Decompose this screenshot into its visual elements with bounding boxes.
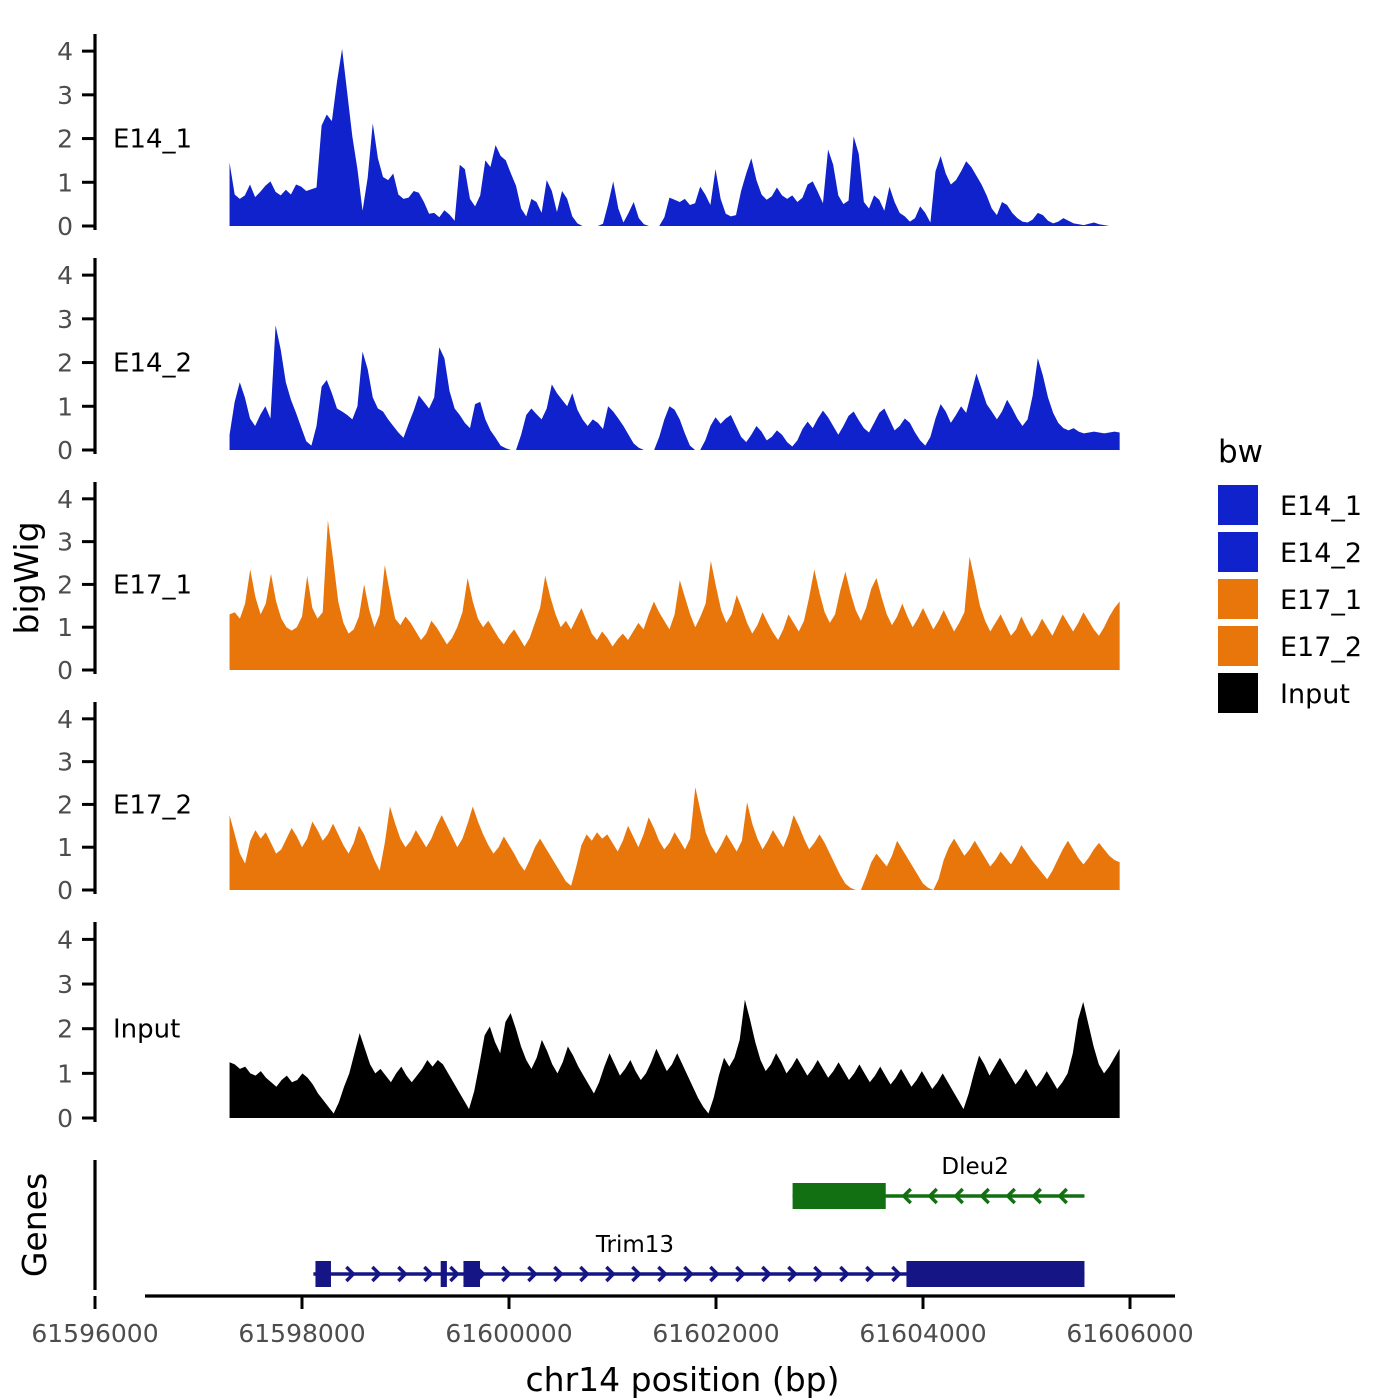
track-panel-E14_2: 01234E14_2 <box>57 258 1120 465</box>
y-tick-label-E17_2-2: 2 <box>57 790 73 819</box>
y-tick-label-E14_2-4: 4 <box>57 261 73 290</box>
genes-panel: GenesDleu2Trim13 <box>15 1154 1084 1290</box>
gene-name-dleu2: Dleu2 <box>941 1154 1008 1180</box>
track-label-E17_1: E17_1 <box>113 570 192 600</box>
legend-label-Input: Input <box>1280 679 1350 710</box>
bigwig-axis-title: bigWig <box>7 521 46 634</box>
gene-name-trim13: Trim13 <box>595 1232 674 1258</box>
y-tick-label-Input-3: 3 <box>57 970 73 999</box>
y-tick-label-E17_1-3: 3 <box>57 528 73 557</box>
y-tick-label-E17_2-3: 3 <box>57 748 73 777</box>
track-area-Input <box>230 1000 1120 1118</box>
gene-exon-trim13-4 <box>906 1261 1084 1287</box>
track-panel-Input: 01234Input <box>57 922 1120 1133</box>
x-tick-label-61604000: 61604000 <box>859 1319 986 1348</box>
y-tick-label-E17_2-0: 0 <box>57 876 73 905</box>
gene-exon-dleu2 <box>793 1183 886 1209</box>
y-tick-label-E17_1-0: 0 <box>57 656 73 685</box>
figure-root: 01234E14_101234E14_201234E17_101234E17_2… <box>0 0 1400 1400</box>
y-tick-label-Input-0: 0 <box>57 1104 73 1133</box>
genes-axis-title: Genes <box>15 1173 54 1277</box>
x-tick-label-61598000: 61598000 <box>238 1319 365 1348</box>
legend-swatch-E14_1[interactable] <box>1218 485 1258 525</box>
track-label-E14_2: E14_2 <box>113 349 192 379</box>
track-area-E17_2 <box>230 787 1120 890</box>
track-label-E14_1: E14_1 <box>113 125 192 155</box>
legend-swatch-E17_2[interactable] <box>1218 626 1258 666</box>
track-panel-E17_2: 01234E17_2 <box>57 702 1120 905</box>
x-tick-label-61606000: 61606000 <box>1066 1319 1193 1348</box>
x-tick-label-61600000: 61600000 <box>445 1319 572 1348</box>
y-tick-label-E14_1-2: 2 <box>57 125 73 154</box>
legend-swatch-Input[interactable] <box>1218 673 1258 713</box>
y-tick-label-E14_2-0: 0 <box>57 436 73 465</box>
legend-label-E14_2: E14_2 <box>1280 538 1362 569</box>
track-label-Input: Input <box>113 1015 180 1045</box>
legend-label-E14_1: E14_1 <box>1280 491 1362 522</box>
genome-browser-figure: 01234E14_101234E14_201234E17_101234E17_2… <box>0 0 1400 1400</box>
y-tick-label-E14_2-3: 3 <box>57 305 73 334</box>
x-tick-label-61596000: 61596000 <box>31 1319 158 1348</box>
y-tick-label-E17_1-2: 2 <box>57 570 73 599</box>
x-tick-label-61602000: 61602000 <box>652 1319 779 1348</box>
x-axis: 6159600061598000616000006160200061604000… <box>31 1296 1193 1399</box>
track-panel-E17_1: 01234E17_1 <box>57 482 1120 685</box>
y-tick-label-E14_1-3: 3 <box>57 81 73 110</box>
gene-exon-trim13-2 <box>441 1261 447 1287</box>
gene-exon-trim13-3 <box>463 1261 480 1287</box>
x-axis-title: chr14 position (bp) <box>526 1360 840 1399</box>
legend-title: bw <box>1218 434 1263 470</box>
y-tick-label-Input-4: 4 <box>57 925 73 954</box>
legend-label-E17_2: E17_2 <box>1280 632 1362 663</box>
y-tick-label-Input-2: 2 <box>57 1015 73 1044</box>
y-tick-label-Input-1: 1 <box>57 1059 73 1088</box>
track-panel-E14_1: 01234E14_1 <box>57 34 1120 241</box>
track-area-E14_1 <box>230 49 1120 226</box>
y-tick-label-E14_1-1: 1 <box>57 168 73 197</box>
y-tick-label-E17_1-4: 4 <box>57 485 73 514</box>
y-tick-label-E17_2-4: 4 <box>57 705 73 734</box>
legend-label-E17_1: E17_1 <box>1280 585 1362 616</box>
y-tick-label-E14_1-0: 0 <box>57 212 73 241</box>
track-area-E14_2 <box>230 325 1120 450</box>
y-tick-label-E14_1-4: 4 <box>57 37 73 66</box>
legend-swatch-E17_1[interactable] <box>1218 579 1258 619</box>
y-tick-label-E17_2-1: 1 <box>57 833 73 862</box>
track-label-E17_2: E17_2 <box>113 790 192 820</box>
y-tick-label-E14_2-1: 1 <box>57 392 73 421</box>
y-tick-label-E14_2-2: 2 <box>57 349 73 378</box>
gene-exon-trim13-1 <box>315 1261 331 1287</box>
y-tick-label-E17_1-1: 1 <box>57 613 73 642</box>
legend: bwE14_1E14_2E17_1E17_2Input <box>1218 434 1362 713</box>
legend-swatch-E14_2[interactable] <box>1218 532 1258 572</box>
track-area-E17_1 <box>230 520 1120 670</box>
